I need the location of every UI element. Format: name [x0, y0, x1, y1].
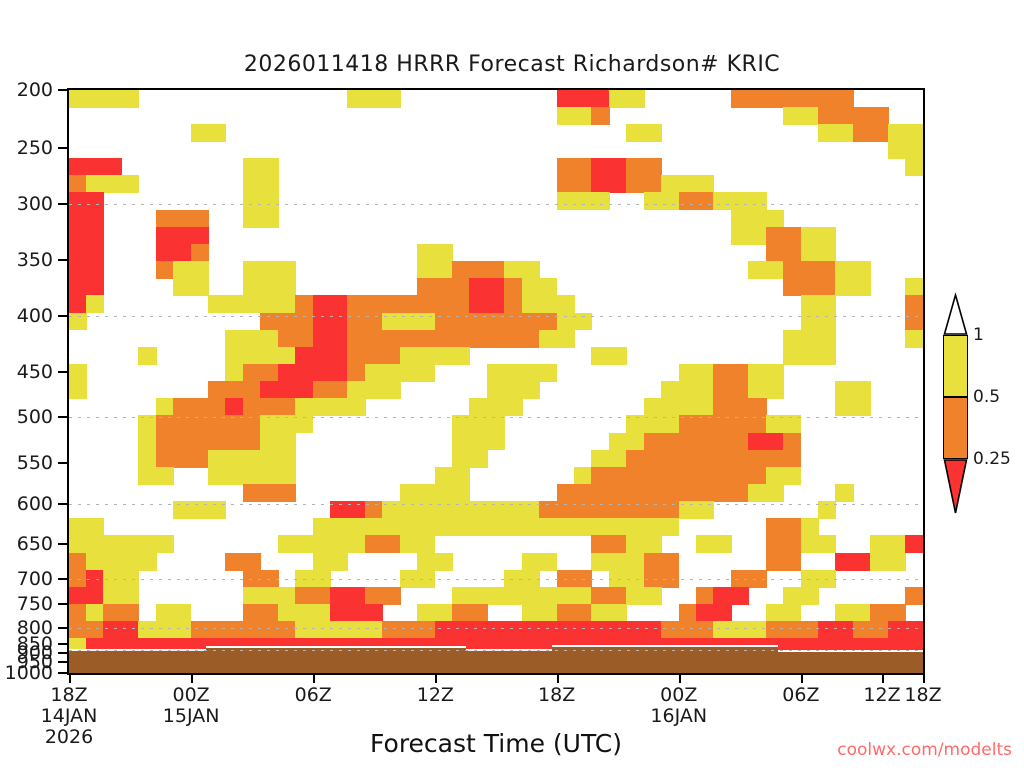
colorbar-band-0.25-0.5: [943, 397, 968, 459]
y-tick-label: 650: [17, 533, 53, 555]
x-tick-label: 18Z: [904, 684, 941, 706]
terrain-segment: [206, 648, 466, 675]
colorbar-legend: 10.50.25: [943, 293, 971, 473]
terrain-segment: [466, 651, 551, 675]
colorbar-arrow-below-0.25: [943, 459, 968, 515]
x-tick-mark: [191, 675, 193, 683]
y-tick-mark: [58, 578, 67, 580]
y-tick-mark: [58, 652, 67, 654]
terrain-segment: [552, 647, 778, 675]
y-tick-mark: [58, 315, 67, 317]
footer-credit: coolwx.com/modelts: [837, 740, 1012, 760]
y-tick-mark: [58, 89, 67, 91]
x-tick-mark: [882, 675, 884, 683]
x-tick-mark: [557, 675, 559, 683]
x-tick-mark: [435, 675, 437, 683]
y-tick-mark: [58, 543, 67, 545]
colorbar-tick-label: 0.5: [973, 387, 1000, 407]
chart-canvas: 2026011418 HRRR Forecast Richardson# KRI…: [0, 0, 1024, 768]
y-tick-label: 350: [17, 249, 53, 271]
y-tick-mark: [58, 416, 67, 418]
y-tick-mark: [58, 259, 67, 261]
y-tick-mark: [58, 603, 67, 605]
x-tick-mark: [679, 675, 681, 683]
y-tick-label: 200: [17, 79, 53, 101]
terrain-top-edge: [206, 646, 466, 648]
y-tick-mark: [58, 643, 67, 645]
terrain-segment: [69, 651, 206, 675]
y-tick-mark: [58, 503, 67, 505]
y-tick-label: 300: [17, 193, 53, 215]
x-tick-label: 00Z: [173, 684, 210, 706]
x-tick-mark: [801, 675, 803, 683]
plot-area: [67, 88, 925, 675]
colorbar-band-0.5-1: [943, 335, 968, 397]
x-tick-date-label: 15JAN: [163, 705, 220, 727]
y-tick-mark: [58, 203, 67, 205]
colorbar-tick-label: 1: [973, 325, 984, 345]
x-axis-title: Forecast Time (UTC): [67, 729, 925, 758]
x-tick-label: 06Z: [295, 684, 332, 706]
y-tick-mark: [58, 371, 67, 373]
terrain-top-edge: [552, 645, 778, 647]
x-tick-mark: [923, 675, 925, 683]
gridline-1000mb: [69, 650, 923, 651]
y-tick-label: 550: [17, 452, 53, 474]
colorbar-tick-label: 0.25: [973, 449, 1011, 469]
y-tick-mark: [58, 147, 67, 149]
x-tick-label: 00Z: [660, 684, 697, 706]
x-tick-date-label: 16JAN: [650, 705, 707, 727]
x-tick-label: 12Z: [863, 684, 900, 706]
terrain-band: [69, 90, 923, 673]
y-tick-mark: [58, 672, 67, 674]
terrain-segment: [778, 652, 924, 675]
colorbar-arrow-above-1: [943, 293, 968, 335]
y-tick-mark: [58, 661, 67, 663]
y-tick-label: 600: [17, 493, 53, 515]
y-tick-label: 500: [17, 406, 53, 428]
y-tick-mark: [58, 627, 67, 629]
y-tick-label: 400: [17, 305, 53, 327]
y-tick-label: 1000: [5, 662, 53, 684]
x-tick-mark: [69, 675, 71, 683]
x-tick-mark: [313, 675, 315, 683]
y-tick-label: 700: [17, 568, 53, 590]
y-tick-label: 450: [17, 361, 53, 383]
x-tick-label: 06Z: [782, 684, 819, 706]
x-tick-label: 18Z: [538, 684, 575, 706]
y-tick-label: 250: [17, 137, 53, 159]
y-tick-label: 750: [17, 593, 53, 615]
x-tick-label: 12Z: [417, 684, 454, 706]
x-tick-date-label: 14JAN: [41, 705, 98, 727]
y-tick-mark: [58, 462, 67, 464]
x-tick-label: 18Z: [50, 684, 87, 706]
page-title: 2026011418 HRRR Forecast Richardson# KRI…: [0, 52, 1024, 77]
y-axis: 2002503003504004505005506006507007508008…: [0, 88, 67, 675]
